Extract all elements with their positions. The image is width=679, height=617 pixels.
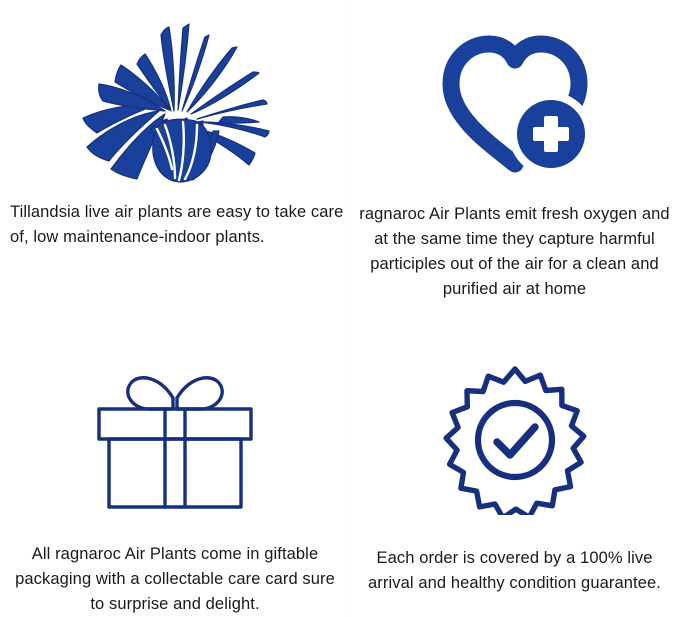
feature-grid: Tillandsia live air plants are easy to t…	[0, 0, 679, 617]
feature-caption: Each order is covered by a 100% live arr…	[354, 546, 676, 596]
guarantee-badge-icon	[440, 308, 590, 540]
feature-cell-live-air-plants: Tillandsia live air plants are easy to t…	[0, 0, 350, 308]
feature-caption: ragnaroc Air Plants emit fresh oxygen an…	[354, 202, 676, 302]
air-plant-icon	[77, 0, 273, 198]
heart-plus-icon	[435, 0, 595, 200]
gift-box-icon	[87, 308, 263, 536]
feature-cell-live-arrival-guarantee: Each order is covered by a 100% live arr…	[350, 308, 679, 617]
feature-cell-giftable-packaging: All ragnaroc Air Plants come in giftable…	[0, 308, 350, 617]
feature-caption: All ragnaroc Air Plants come in giftable…	[10, 542, 340, 617]
feature-caption: Tillandsia live air plants are easy to t…	[5, 200, 345, 250]
feature-cell-fresh-oxygen: ragnaroc Air Plants emit fresh oxygen an…	[350, 0, 679, 308]
